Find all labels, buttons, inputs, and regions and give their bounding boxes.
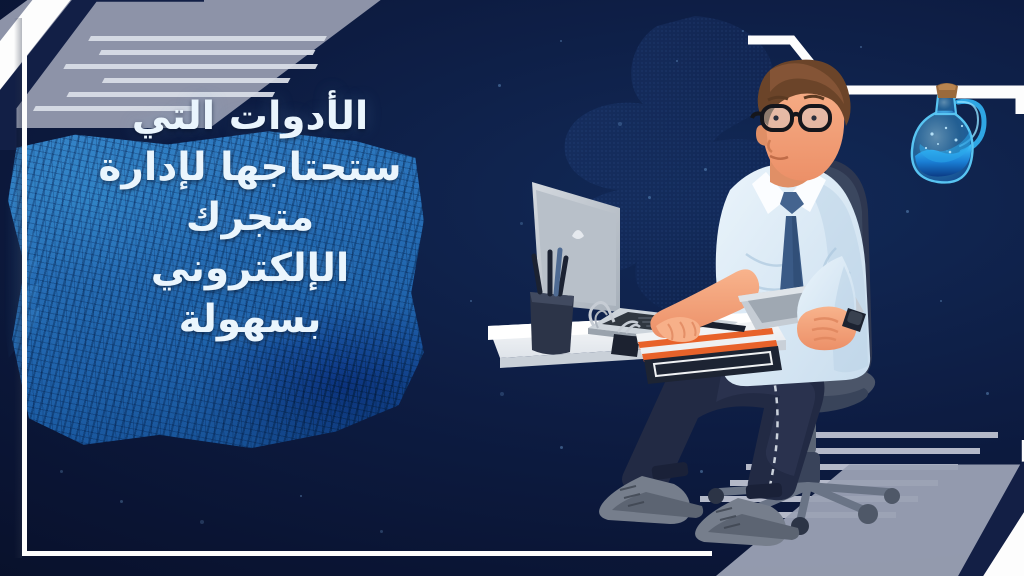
headline-line-4: الإلكتروني — [60, 244, 440, 295]
businessman-at-desk-illustration — [470, 40, 940, 560]
left-frame-line — [22, 18, 27, 556]
headline-line-5: بسهولة — [60, 295, 440, 346]
potion-bottle-logo — [900, 78, 992, 186]
headline-line-1: الأدوات التي — [60, 92, 440, 143]
headline-line-2: ستحتاجها لإدارة — [60, 143, 440, 194]
headline-line-3: متجرك — [60, 193, 440, 244]
poster-canvas: الأدوات التي ستحتاجها لإدارة متجرك الإلك… — [0, 0, 1024, 576]
headline-text: الأدوات التي ستحتاجها لإدارة متجرك الإلك… — [60, 92, 440, 345]
frame-shadow — [14, 18, 22, 558]
